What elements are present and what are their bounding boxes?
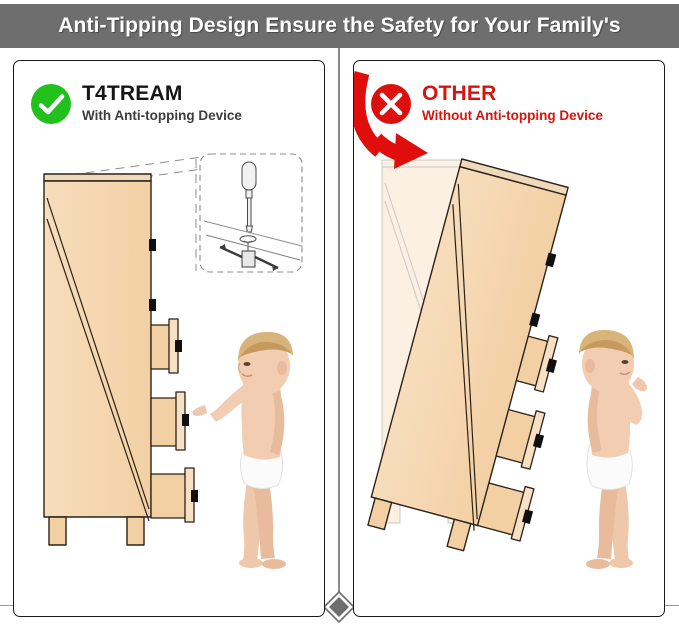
child-figure-left (192, 332, 293, 569)
panel-divider (338, 48, 340, 606)
bad-example-panel: OTHER Without Anti-topping Device (353, 60, 665, 617)
header-banner: Anti-Tipping Design Ensure the Safety fo… (0, 4, 679, 48)
drawer-top (151, 319, 178, 373)
drawer-middle (151, 392, 185, 450)
right-illustration (354, 61, 665, 617)
child-figure-right (579, 330, 647, 569)
drawer-bottom (151, 468, 194, 522)
page-title: Anti-Tipping Design Ensure the Safety fo… (58, 14, 620, 38)
red-curved-tip-arrow-icon (357, 73, 428, 169)
good-example-panel: T4TREAM With Anti-topping Device (13, 60, 325, 617)
anti-tip-device-inset (200, 154, 302, 272)
dresser-upright (44, 174, 151, 545)
left-illustration (14, 61, 325, 617)
